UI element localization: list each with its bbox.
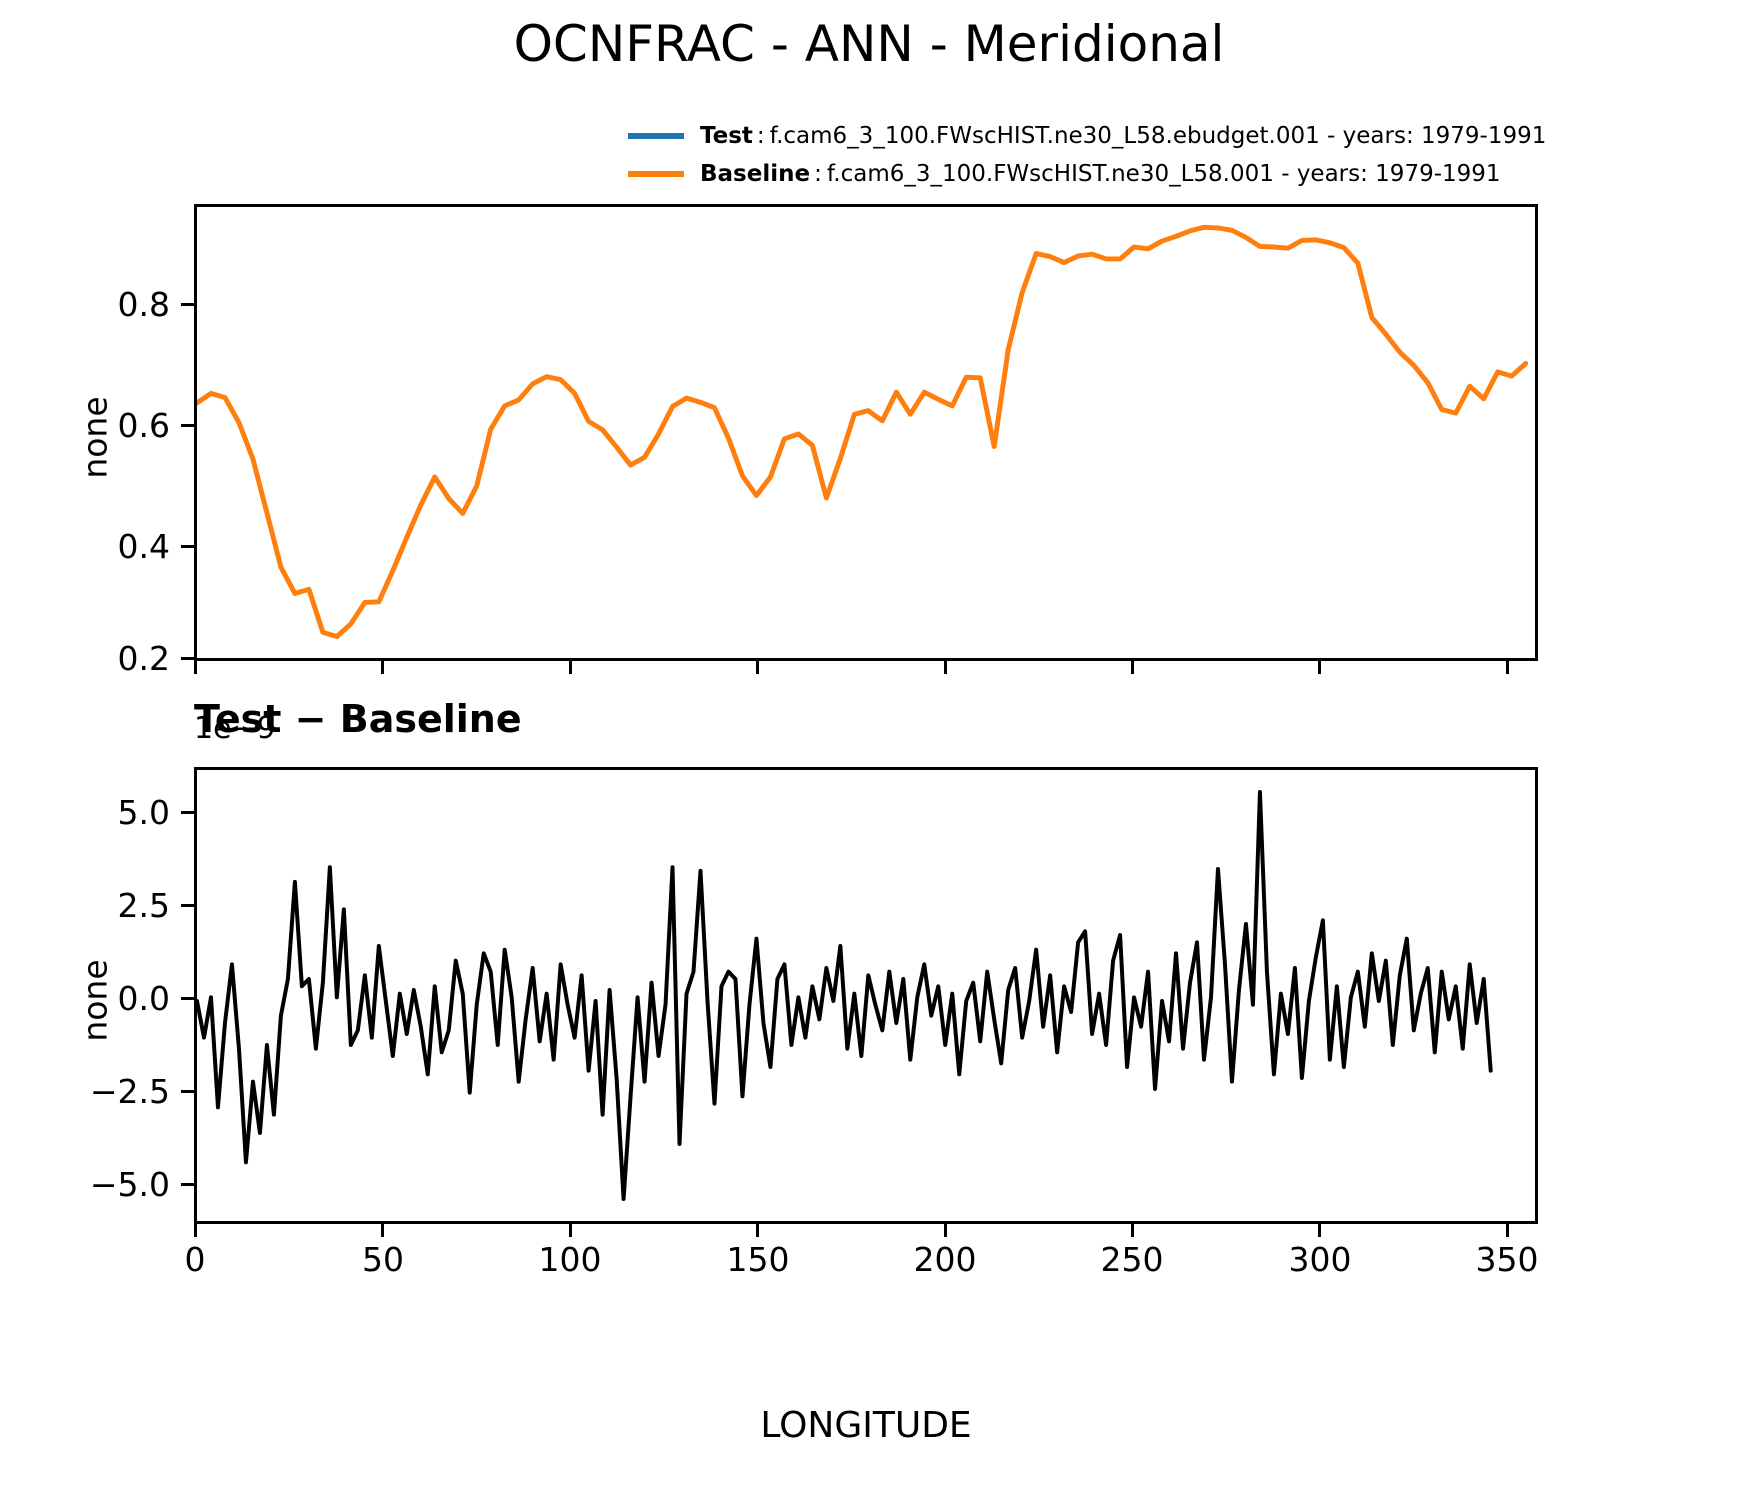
top-xtick-mark-1 [381, 661, 384, 674]
legend: Test : f.cam6_3_100.FWscHIST.ne30_L58.eb… [628, 112, 1738, 192]
legend-swatch-test [628, 133, 684, 139]
bottom-x-axis-label: LONGITUDE [194, 1405, 1538, 1446]
bottom-ytick-mark-2 [181, 997, 194, 1000]
bottom-ytick-mark-4 [181, 1183, 194, 1186]
top-ytick-mark-2 [181, 545, 194, 548]
series-line-test [197, 227, 1526, 636]
legend-entry-baseline-separator: : [810, 161, 827, 187]
top-xtick-mark-0 [194, 661, 197, 674]
series-line-baseline [197, 227, 1526, 636]
bottom-xtick-label-3: 150 [698, 1243, 818, 1276]
top-xtick-mark-7 [1506, 661, 1509, 674]
bottom-xtick-mark-3 [756, 1224, 759, 1237]
top-plot-axes [194, 204, 1538, 661]
series-line-difference [197, 792, 1491, 1199]
top-ytick-label-0: 0.8 [0, 288, 170, 321]
bottom-plot-axes [194, 767, 1538, 1224]
bottom-xtick-mark-5 [1131, 1224, 1134, 1237]
legend-entry-baseline-description: f.cam6_3_100.FWscHIST.ne30_L58.001 - yea… [827, 161, 1501, 187]
top-plot-canvas [197, 207, 1535, 658]
bottom-xtick-mark-0 [194, 1224, 197, 1237]
bottom-xtick-mark-1 [381, 1224, 384, 1237]
bottom-y-axis-offset-text: 1e−9 [194, 709, 276, 749]
legend-entry-test: Test : f.cam6_3_100.FWscHIST.ne30_L58.eb… [628, 118, 1546, 154]
top-xtick-mark-4 [944, 661, 947, 674]
legend-swatch-baseline [628, 171, 684, 177]
bottom-xtick-label-5: 250 [1072, 1243, 1192, 1276]
top-ytick-mark-1 [181, 424, 194, 427]
bottom-plot-canvas [197, 770, 1535, 1221]
legend-entry-baseline-name: Baseline [700, 161, 810, 187]
legend-entry-test-name: Test [700, 123, 753, 149]
bottom-xtick-label-2: 100 [510, 1243, 630, 1276]
page-title: OCNFRAC - ANN - Meridional [0, 14, 1738, 74]
bottom-xtick-mark-6 [1318, 1224, 1321, 1237]
bottom-ytick-mark-0 [181, 811, 194, 814]
bottom-ytick-mark-3 [181, 1090, 194, 1093]
legend-entry-test-separator: : [753, 123, 770, 149]
bottom-xtick-label-4: 200 [885, 1243, 1005, 1276]
bottom-xtick-label-0: 0 [135, 1243, 255, 1276]
top-ytick-label-3: 0.2 [0, 642, 170, 675]
bottom-xtick-label-6: 300 [1260, 1243, 1380, 1276]
bottom-ytick-label-0: 5.0 [0, 796, 170, 829]
top-xtick-mark-6 [1318, 661, 1321, 674]
bottom-ytick-mark-1 [181, 904, 194, 907]
bottom-xtick-mark-2 [569, 1224, 572, 1237]
figure-canvas: OCNFRAC - ANN - Meridional Test : f.cam6… [0, 0, 1738, 1496]
top-ytick-mark-3 [181, 657, 194, 660]
top-ytick-mark-0 [181, 303, 194, 306]
bottom-xtick-label-1: 50 [323, 1243, 443, 1276]
top-y-axis-label: none [76, 338, 115, 538]
top-xtick-mark-3 [756, 661, 759, 674]
top-xtick-mark-5 [1131, 661, 1134, 674]
legend-entry-test-description: f.cam6_3_100.FWscHIST.ne30_L58.ebudget.0… [770, 123, 1547, 149]
bottom-xtick-mark-4 [944, 1224, 947, 1237]
bottom-xtick-mark-7 [1506, 1224, 1509, 1237]
top-xtick-mark-2 [569, 661, 572, 674]
bottom-xtick-label-7: 350 [1447, 1243, 1567, 1276]
legend-entry-baseline: Baseline : f.cam6_3_100.FWscHIST.ne30_L5… [628, 156, 1501, 192]
bottom-ytick-label-4: −5.0 [0, 1168, 170, 1201]
bottom-y-axis-label: none [76, 901, 115, 1101]
